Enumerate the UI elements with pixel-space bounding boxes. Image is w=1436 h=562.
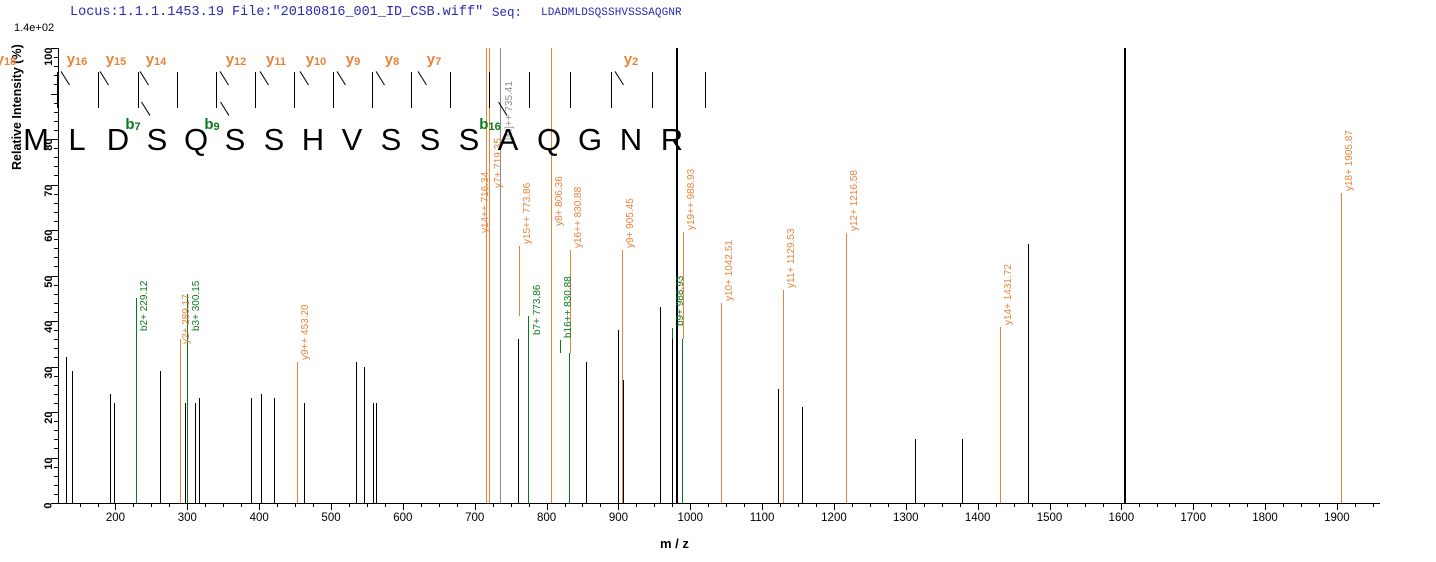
spectrum-peak [136, 298, 137, 503]
x-tick [906, 503, 907, 510]
spectrum-peak [962, 439, 963, 503]
x-tick [565, 503, 566, 507]
x-tick-label: 1000 [677, 512, 703, 524]
x-tick-label: 1200 [821, 512, 847, 524]
b-ion-label: b7 [125, 117, 140, 132]
spectrum-peak [721, 312, 722, 503]
peak-label-stem [846, 233, 847, 257]
y-ion-label: y7 [427, 52, 441, 67]
spectrum-peak [376, 403, 377, 503]
b-ion-label: b16 [479, 117, 500, 132]
sequence-residue: Q [537, 124, 561, 155]
x-tick [1032, 503, 1033, 507]
x-tick [960, 503, 961, 507]
peak-annotation-label: y16++ 830.88 [574, 187, 584, 248]
x-tick-label: 500 [321, 512, 340, 524]
b-ion-tick [220, 102, 229, 116]
x-tick [529, 503, 530, 507]
peak-label-stem [622, 250, 623, 330]
spectrum-peak [261, 394, 262, 503]
x-tick [618, 503, 619, 510]
y-tick [54, 303, 58, 304]
x-tick [169, 503, 170, 507]
y-ion-label: y11 [266, 52, 286, 67]
y-ion-label: y8 [385, 52, 399, 67]
spectrum-peak [586, 362, 587, 503]
spectrum-peak [195, 403, 196, 503]
residue-divider [98, 72, 99, 108]
x-tick [690, 503, 691, 510]
x-tick [888, 503, 889, 507]
x-tick [98, 503, 99, 507]
x-tick-label: 1300 [893, 512, 919, 524]
x-tick [654, 503, 655, 507]
x-tick [726, 503, 727, 507]
spectrum-peak [623, 380, 624, 503]
x-tick [1265, 503, 1266, 510]
peak-annotation-label: y10+ 1042.51 [725, 240, 735, 301]
spectrum-peak [569, 353, 570, 503]
x-tick [942, 503, 943, 507]
x-tick [1373, 503, 1374, 507]
y-ion-tick [100, 71, 109, 85]
y-ion-tick [615, 71, 624, 85]
x-tick [277, 503, 278, 507]
x-tick [870, 503, 871, 507]
peak-annotation-label: b16++ 830.88 [564, 276, 574, 338]
x-tick-label: 600 [393, 512, 412, 524]
x-tick [1355, 503, 1356, 507]
x-tick [385, 503, 386, 507]
sequence-residue: S [459, 124, 480, 155]
y-tick [54, 175, 58, 176]
x-tick [1211, 503, 1212, 507]
residue-divider [177, 72, 178, 108]
peak-annotation-label: y9+ 905.45 [626, 198, 636, 248]
y-tick [54, 394, 58, 395]
spectrum-peak [199, 398, 200, 503]
x-tick-label: 1600 [1109, 512, 1135, 524]
spectrum-peak [682, 339, 683, 503]
y-tick [54, 221, 58, 222]
x-tick [1067, 503, 1068, 507]
x-tick [1301, 503, 1302, 507]
x-tick-label: 400 [250, 512, 269, 524]
peak-label-stem [519, 246, 520, 316]
peak-annotation-label: y14++ 716.34 [481, 172, 491, 233]
x-tick [205, 503, 206, 507]
residue-divider [611, 72, 612, 108]
x-tick [636, 503, 637, 507]
y-tick-label: 60 [44, 230, 55, 242]
y-ion-label: y9 [346, 52, 360, 67]
spectrum-peak [672, 339, 673, 503]
y-tick [54, 448, 58, 449]
spectrum-peak [1000, 335, 1001, 503]
y-tick [54, 257, 58, 258]
sequence-residue: S [225, 124, 246, 155]
y-tick [54, 476, 58, 477]
x-tick-label: 1100 [750, 512, 775, 524]
residue-divider [450, 72, 451, 108]
spectrum-peak [528, 316, 529, 503]
sequence-residue: M [23, 124, 49, 155]
sequence-residue: R [661, 124, 683, 155]
x-tick-label: 800 [537, 512, 556, 524]
y-tick [54, 312, 58, 313]
spectrum-peak [110, 394, 111, 503]
spectrum-peak [364, 367, 365, 504]
x-tick [313, 503, 314, 507]
x-tick [1085, 503, 1086, 507]
x-tick [798, 503, 799, 507]
peak-annotation-label: y8+ 806.36 [555, 176, 565, 226]
x-tick [187, 503, 188, 510]
sequence-residue: H [302, 124, 324, 155]
x-tick [1193, 503, 1194, 510]
spectrum-peak [251, 398, 252, 503]
spectrum-peak [185, 403, 186, 503]
peak-label-stem [1341, 193, 1342, 253]
spectrum-peak [783, 303, 784, 503]
y-ion-label: y14 [146, 52, 167, 67]
sequence-residue: S [381, 124, 402, 155]
y-tick [54, 166, 58, 167]
y-ion-tick [376, 71, 385, 85]
x-tick [151, 503, 152, 507]
y-ion-label: y10 [306, 52, 327, 67]
sequence-residue: S [147, 124, 168, 155]
spectrum-peak [373, 403, 374, 503]
x-tick [1229, 503, 1230, 507]
x-tick [223, 503, 224, 507]
x-tick [1283, 503, 1284, 507]
x-axis-line [58, 503, 1380, 504]
sequence-residue: A [498, 124, 519, 155]
sequence-residue: G [578, 124, 602, 155]
y-ion-tick [300, 71, 309, 85]
y-ion-tick [140, 71, 149, 85]
y-ion-tick [220, 71, 229, 85]
x-tick [816, 503, 817, 507]
y-tick [54, 266, 58, 267]
spectrum-peak [72, 371, 73, 503]
x-tick [259, 503, 260, 510]
x-tick [331, 503, 332, 510]
y-tick [54, 385, 58, 386]
x-tick [475, 503, 476, 510]
spectrum-peak [66, 357, 67, 503]
y-ion-tick [61, 71, 70, 85]
x-tick [547, 503, 548, 510]
peak-label-stem [1000, 327, 1001, 335]
x-tick [511, 503, 512, 507]
y-tick [54, 403, 58, 404]
peak-annotation-label: b2+ 229.12 [140, 281, 150, 331]
x-tick [600, 503, 601, 507]
intensity-scale-note: 1.4e+02 [14, 22, 54, 34]
y-tick-label: 40 [44, 321, 55, 333]
peptide-sequence-ladder: MLDSQSSHVSSSAQGNRy18y16y15y14y12y11y10y9… [0, 52, 1436, 152]
residue-divider [570, 72, 571, 108]
spectrum-peak [778, 389, 779, 503]
residue-divider [529, 72, 530, 108]
x-tick-label: 1700 [1180, 512, 1206, 524]
x-tick [834, 503, 835, 510]
x-tick-label: 300 [178, 512, 197, 524]
y-tick-label: 10 [44, 457, 55, 469]
y-tick [54, 212, 58, 213]
x-tick [582, 503, 583, 507]
y-tick-label: 20 [44, 412, 55, 424]
x-tick [780, 503, 781, 507]
spectrum-peak [618, 330, 619, 503]
x-tick [367, 503, 368, 507]
sequence-residue: S [420, 124, 441, 155]
b-ion-tick [498, 102, 507, 116]
residue-divider [333, 72, 334, 108]
peak-annotation-label: b9+ 988.93 [676, 276, 686, 326]
x-tick [1014, 503, 1015, 507]
sequence-label: Seq: [492, 6, 522, 20]
b-ion-tick [141, 102, 150, 116]
residue-divider [138, 72, 139, 108]
y-tick [54, 494, 58, 495]
peak-annotation-label: y11+ 1129.53 [787, 229, 797, 288]
y-tick-label: 30 [44, 366, 55, 378]
locus-file-text: Locus:1.1.1.1453.19 File:"20180816_001_I… [70, 5, 483, 20]
x-tick-label: 1900 [1324, 512, 1350, 524]
x-tick [978, 503, 979, 510]
sequence-residue: V [342, 124, 363, 155]
spectrum-peak [160, 371, 161, 503]
peak-label-stem [783, 290, 784, 303]
x-tick [762, 503, 763, 510]
peak-annotation-label: y15++ 773.86 [523, 183, 533, 244]
y-tick [54, 430, 58, 431]
y-tick [54, 157, 58, 158]
x-tick [80, 503, 81, 507]
y-ion-label: y15 [106, 52, 127, 67]
peak-label-stem [721, 303, 722, 312]
y-tick [54, 248, 58, 249]
x-tick [672, 503, 673, 507]
x-tick [1050, 503, 1051, 510]
y-tick [54, 348, 58, 349]
peak-annotation-label: y9++ 453.20 [301, 304, 311, 360]
peak-annotation-label: y12+ 1216.58 [850, 170, 860, 231]
y-ion-label: y16 [67, 52, 88, 67]
residue-divider [411, 72, 412, 108]
peak-annotation-label: b7+ 773.86 [533, 285, 543, 335]
residue-divider [705, 72, 706, 108]
y-tick-label: 0 [44, 503, 55, 509]
x-tick [349, 503, 350, 507]
x-tick [924, 503, 925, 507]
y-tick [54, 485, 58, 486]
x-tick [403, 503, 404, 510]
y-ion-label: y2 [624, 52, 638, 67]
x-tick [421, 503, 422, 507]
x-tick [1175, 503, 1176, 507]
peak-annotation-label: b3+ 300.15 [192, 281, 202, 331]
x-tick [439, 503, 440, 507]
x-tick [1337, 503, 1338, 510]
y-tick [54, 357, 58, 358]
spectrum-peak [846, 257, 847, 503]
x-tick-label: 900 [609, 512, 628, 524]
x-tick-label: 1500 [1037, 512, 1063, 524]
residue-divider [652, 72, 653, 108]
sequence-value: LDADMLDSQSSHVSSSAQGNR [541, 7, 682, 19]
x-tick [1319, 503, 1320, 507]
x-tick-label: 1400 [965, 512, 991, 524]
x-tick [1139, 503, 1140, 507]
y-tick [54, 294, 58, 295]
peak-annotation-label: y14+ 1431.72 [1004, 264, 1014, 325]
b-ion-label: b9 [204, 117, 219, 132]
x-tick [1103, 503, 1104, 507]
peak-label-stem [672, 328, 673, 339]
y-tick [54, 439, 58, 440]
x-tick [1157, 503, 1158, 507]
peak-annotation-label: y19++ 988.93 [687, 169, 697, 230]
x-tick [493, 503, 494, 507]
x-tick [457, 503, 458, 507]
spectrum-peak [274, 398, 275, 503]
peak-label-stem [560, 340, 561, 353]
y-ion-label: y18 [0, 52, 16, 67]
x-tick [241, 503, 242, 507]
y-tick-label: 50 [44, 275, 55, 287]
spectrum-peak [1028, 244, 1029, 503]
residue-divider [372, 72, 373, 108]
y-tick [54, 339, 58, 340]
x-tick [295, 503, 296, 507]
sequence-residue: N [620, 124, 642, 155]
x-tick [1247, 503, 1248, 507]
x-tick [1121, 503, 1122, 510]
x-tick [996, 503, 997, 507]
residue-divider [255, 72, 256, 108]
residue-divider [489, 72, 490, 108]
x-axis-title: m / z [660, 536, 689, 551]
spectrum-peak [356, 362, 357, 503]
spectrum-peak [915, 439, 916, 503]
y-ion-label: y12 [226, 52, 247, 67]
y-tick-label: 70 [44, 184, 55, 196]
x-tick [708, 503, 709, 507]
y-tick [54, 203, 58, 204]
spectrum-peak [1341, 253, 1342, 503]
y-ion-tick [337, 71, 346, 85]
x-tick-label: 1800 [1252, 512, 1278, 524]
header-bar: Locus:1.1.1.1453.19 File:"20180816_001_I… [0, 5, 1436, 27]
spectrum-peak [802, 407, 803, 503]
x-tick [133, 503, 134, 507]
spectrum-peak [180, 339, 181, 503]
x-tick [744, 503, 745, 507]
x-tick [852, 503, 853, 507]
spectrum-peak [114, 403, 115, 503]
x-tick [115, 503, 116, 510]
spectrum-peak [304, 403, 305, 503]
residue-divider [294, 72, 295, 108]
y-ion-tick [260, 71, 269, 85]
spectrum-peak [660, 307, 661, 503]
spectrum-peak [297, 403, 298, 503]
residue-divider [216, 72, 217, 108]
sequence-residue: L [68, 124, 85, 155]
sequence-residue: S [264, 124, 285, 155]
spectrum-peak [518, 339, 519, 503]
x-tick-label: 200 [106, 512, 125, 524]
residue-divider [57, 72, 58, 108]
peak-label-stem [297, 362, 298, 403]
x-tick-label: 700 [465, 512, 484, 524]
y-ion-tick [418, 71, 427, 85]
